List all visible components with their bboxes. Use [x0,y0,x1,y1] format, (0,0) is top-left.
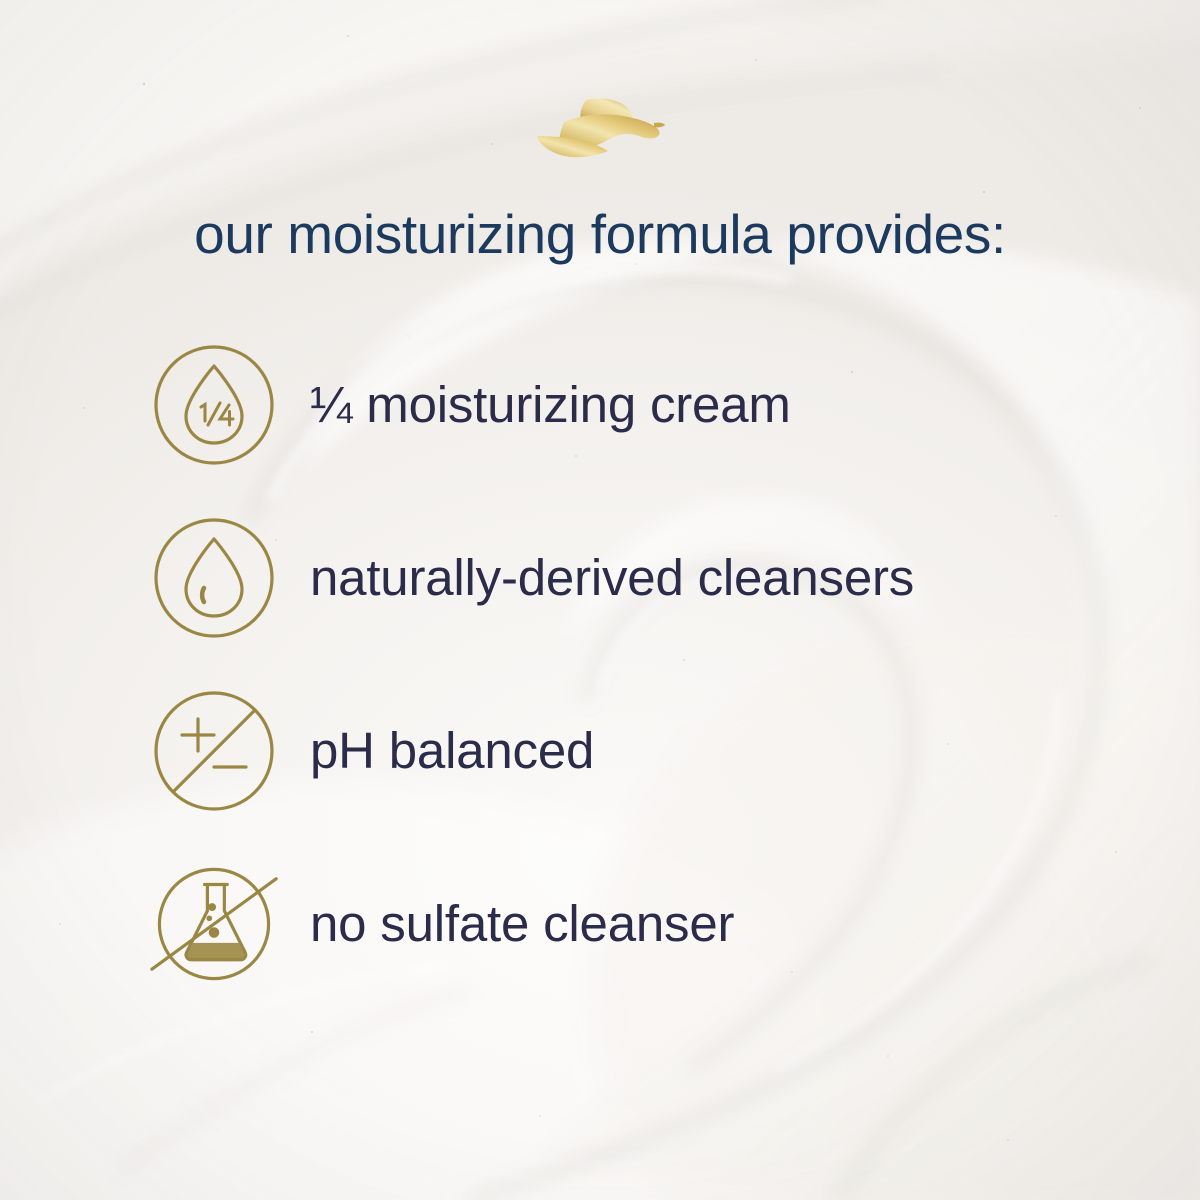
no-sulfate-flask-icon [150,860,278,988]
benefit-row-naturally-derived: naturally-derived cleansers [150,513,1160,643]
benefit-row-no-sulfate: no sulfate cleanser [150,859,1160,989]
benefit-row-ph-balanced: pH balanced [150,686,1160,816]
benefit-label: ¼ moisturizing cream [310,378,791,432]
benefits-list: ¼ moisturizing cream naturally-derived c… [150,340,1160,989]
benefit-label: no sulfate cleanser [310,897,734,951]
droplet-quarter-icon [150,341,278,469]
dove-bird-logo [534,96,666,162]
benefit-label: naturally-derived cleansers [310,551,914,605]
benefit-label: pH balanced [310,724,594,778]
ph-balance-icon [150,687,278,815]
page-title: our moisturizing formula provides: [0,206,1200,264]
promo-card: our moisturizing formula provides: ¼ [0,0,1200,1200]
droplet-icon [150,514,278,642]
benefit-row-moisturizing-cream: ¼ moisturizing cream [150,340,1160,470]
